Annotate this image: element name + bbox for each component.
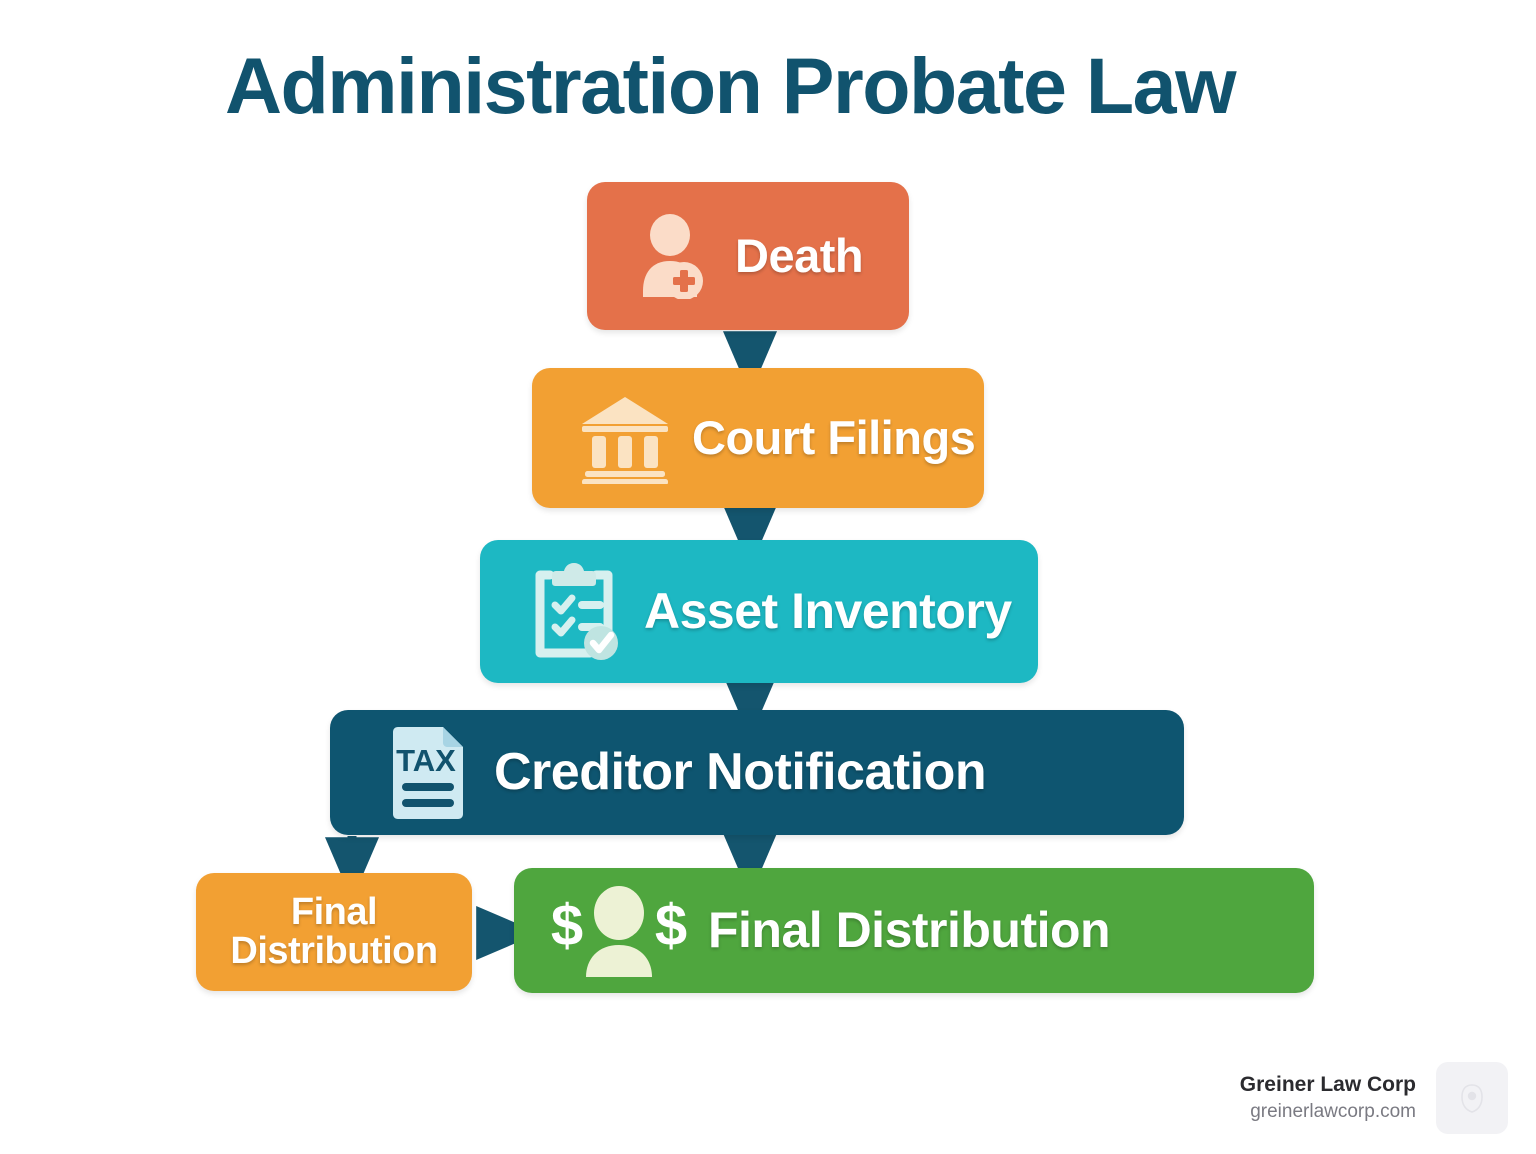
flow-step-final-distribution-small[interactable]: Final Distribution xyxy=(196,873,472,991)
flow-step-label: Creditor Notification xyxy=(494,746,986,799)
dollar-sign-right: $ xyxy=(655,893,687,958)
flow-step-final-distribution[interactable]: $ $ Final Distribution xyxy=(514,868,1314,993)
flow-step-label: Court Filings xyxy=(692,414,975,462)
infographic-canvas: Administration Probate Law xyxy=(0,0,1536,1154)
footer-website-url[interactable]: greinerlawcorp.com xyxy=(1240,1099,1416,1125)
flow-step-label-line2: Distribution xyxy=(230,930,437,972)
dollar-sign-left: $ xyxy=(551,893,583,958)
flow-step-asset-inventory[interactable]: Asset Inventory xyxy=(480,540,1038,683)
footer-text: Greiner Law Corp greinerlawcorp.com xyxy=(1240,1071,1416,1125)
tax-icon-text: TAX xyxy=(396,743,456,778)
tax-document-icon: TAX xyxy=(390,723,474,823)
footer-brand-name: Greiner Law Corp xyxy=(1240,1071,1416,1099)
flow-step-label: Final Distribution xyxy=(196,893,472,971)
flow-step-label: Asset Inventory xyxy=(644,586,1012,637)
flow-step-court-filings[interactable]: Court Filings xyxy=(532,368,984,508)
flow-step-creditor-notification[interactable]: TAX Creditor Notification xyxy=(330,710,1184,835)
flow-step-death[interactable]: Death xyxy=(587,182,909,330)
courthouse-icon xyxy=(578,392,672,484)
brand-logo-placeholder-icon xyxy=(1436,1062,1508,1134)
person-medical-cross-icon xyxy=(637,213,715,299)
flow-step-label: Death xyxy=(735,232,863,280)
shield-crest-icon xyxy=(1455,1081,1489,1115)
person-dollar-signs-icon: $ $ xyxy=(550,883,688,979)
footer: Greiner Law Corp greinerlawcorp.com xyxy=(1240,1062,1508,1134)
clipboard-checklist-icon xyxy=(528,561,624,663)
flow-step-label: Final Distribution xyxy=(708,905,1110,956)
flow-step-label-line1: Final xyxy=(291,891,377,933)
page-title: Administration Probate Law xyxy=(0,46,1460,125)
